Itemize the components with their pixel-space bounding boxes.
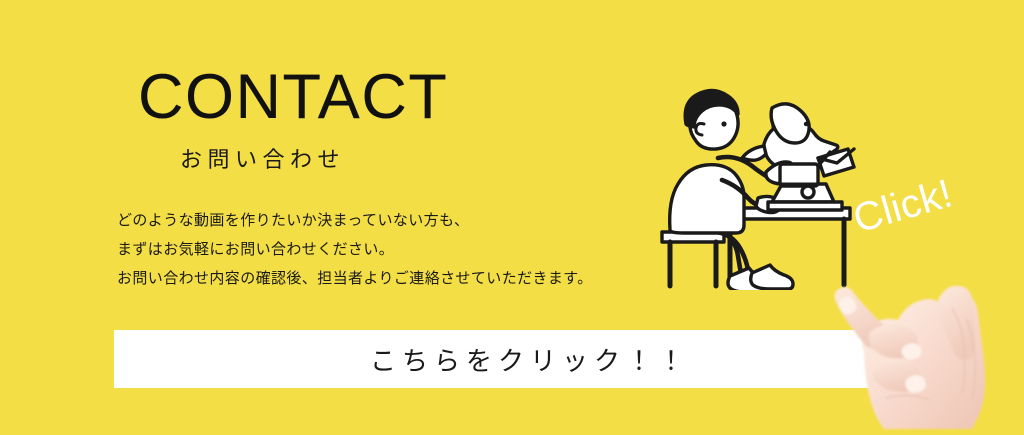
person-head	[685, 90, 738, 149]
cta-label: こちらをクリック！！	[370, 341, 690, 378]
lead-line-3: お問い合わせ内容の確認後、担当者よりご連絡させていただきます。	[117, 264, 593, 293]
lead-line-1: どのような動画を作りたいか決まっていない方も、	[117, 206, 593, 235]
contact-banner: CONTACT お問い合わせ どのような動画を作りたいか決まっていない方も、 ま…	[0, 0, 1024, 435]
pointing-hand-icon	[826, 248, 1024, 435]
lead-line-2: まずはお気軽にお問い合わせください。	[117, 235, 593, 264]
heading-block: CONTACT お問い合わせ	[138, 66, 448, 173]
page-subtitle: お問い合わせ	[180, 147, 448, 173]
page-title: CONTACT	[138, 66, 448, 129]
lead-paragraph: どのような動画を作りたいか決まっていない方も、 まずはお気軽にお問い合わせくださ…	[117, 206, 593, 293]
stool-shape	[662, 232, 724, 286]
